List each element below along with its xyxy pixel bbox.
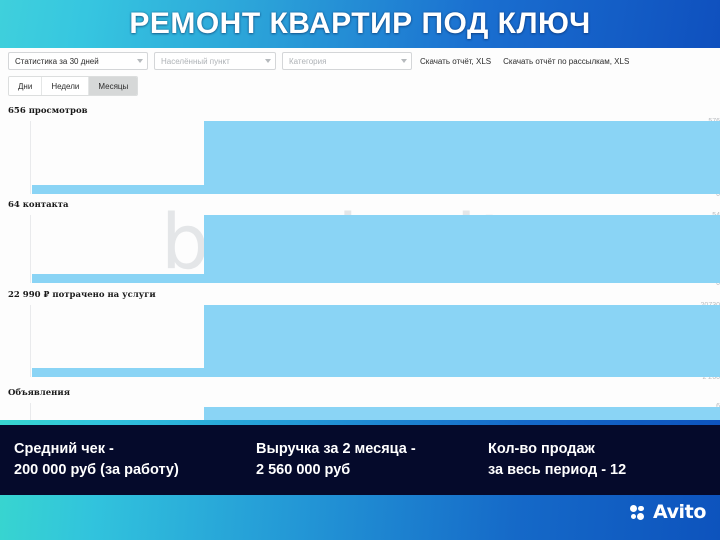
bar-month-2-spend bbox=[204, 305, 720, 377]
stat-revenue-line2: 2 560 000 руб bbox=[256, 460, 488, 481]
download-report-link[interactable]: Скачать отчёт, XLS bbox=[420, 57, 491, 66]
period-select[interactable]: Статистика за 30 дней bbox=[8, 52, 148, 70]
bar-month-1-spend bbox=[32, 368, 204, 377]
chart-title-spend: 22 990 ₽ потрачено на услуги bbox=[8, 290, 720, 300]
avito-wordmark: Avito bbox=[653, 503, 706, 522]
avito-dots-icon bbox=[630, 505, 649, 520]
stat-sales-count-line2: за весь период - 12 bbox=[488, 460, 626, 481]
poster-root: РЕМОНТ КВАРТИР ПОД КЛЮЧ bondavito Статис… bbox=[0, 0, 720, 540]
download-mailing-report-link[interactable]: Скачать отчёт по рассылкам, XLS bbox=[503, 57, 629, 66]
chevron-down-icon bbox=[265, 59, 271, 63]
stat-sales-count-line1: Кол-во продаж bbox=[488, 439, 626, 460]
period-toggle-days[interactable]: Дни bbox=[9, 77, 42, 95]
city-select-label: Населённый пункт bbox=[161, 57, 230, 66]
avito-stats-screenshot: bondavito Статистика за 30 дней Населённ… bbox=[0, 48, 720, 420]
bar-month-2-views bbox=[204, 121, 720, 194]
chart-plot-views: 576 0 bbox=[0, 121, 720, 194]
chart-title-contacts: 64 контакта bbox=[8, 200, 720, 210]
period-toggle-months[interactable]: Месяцы bbox=[89, 77, 137, 95]
chart-block-contacts: 64 контакта 54 0 bbox=[0, 200, 720, 283]
period-toggle[interactable]: Дни Недели Месяцы bbox=[8, 76, 138, 96]
category-select-label: Категория bbox=[289, 57, 326, 66]
avito-logo: Avito bbox=[630, 503, 706, 522]
y-axis-line bbox=[30, 403, 31, 420]
bar-month-1-contacts bbox=[32, 274, 204, 283]
stat-revenue: Выручка за 2 месяца - 2 560 000 руб bbox=[256, 439, 488, 481]
stat-revenue-line1: Выручка за 2 месяца - bbox=[256, 439, 488, 460]
city-select[interactable]: Населённый пункт bbox=[154, 52, 276, 70]
chart-block-listings: Объявления 6 bbox=[0, 388, 720, 420]
stat-average-check: Средний чек - 200 000 руб (за работу) bbox=[14, 439, 256, 481]
chevron-down-icon bbox=[137, 59, 143, 63]
stats-row: Средний чек - 200 000 руб (за работу) Вы… bbox=[0, 425, 720, 495]
headline-title: РЕМОНТ КВАРТИР ПОД КЛЮЧ bbox=[129, 7, 590, 41]
headline-banner: РЕМОНТ КВАРТИР ПОД КЛЮЧ bbox=[0, 0, 720, 48]
stat-average-check-line1: Средний чек - bbox=[14, 439, 256, 460]
bar-month-2-listings bbox=[204, 407, 720, 420]
y-axis-line bbox=[30, 305, 31, 377]
filters-row: Статистика за 30 дней Населённый пункт К… bbox=[8, 51, 720, 71]
y-axis-line bbox=[30, 121, 31, 194]
chart-block-spend: 22 990 ₽ потрачено на услуги 20730 2 260 bbox=[0, 290, 720, 377]
bar-month-1-views bbox=[32, 185, 204, 194]
chart-title-views: 656 просмотров bbox=[8, 106, 720, 116]
chart-block-views: 656 просмотров 576 0 bbox=[0, 106, 720, 194]
chart-plot-contacts: 54 0 bbox=[0, 215, 720, 283]
chart-plot-spend: 20730 2 260 bbox=[0, 305, 720, 377]
period-toggle-weeks[interactable]: Недели bbox=[42, 77, 89, 95]
chart-title-listings: Объявления bbox=[8, 388, 720, 398]
stat-sales-count: Кол-во продаж за весь период - 12 bbox=[488, 439, 626, 481]
period-select-label: Статистика за 30 дней bbox=[15, 57, 99, 66]
y-axis-line bbox=[30, 215, 31, 283]
category-select[interactable]: Категория bbox=[282, 52, 412, 70]
stat-average-check-line2: 200 000 руб (за работу) bbox=[14, 460, 256, 481]
chart-plot-listings: 6 bbox=[0, 403, 720, 420]
bar-month-2-contacts bbox=[204, 215, 720, 283]
chevron-down-icon bbox=[401, 59, 407, 63]
